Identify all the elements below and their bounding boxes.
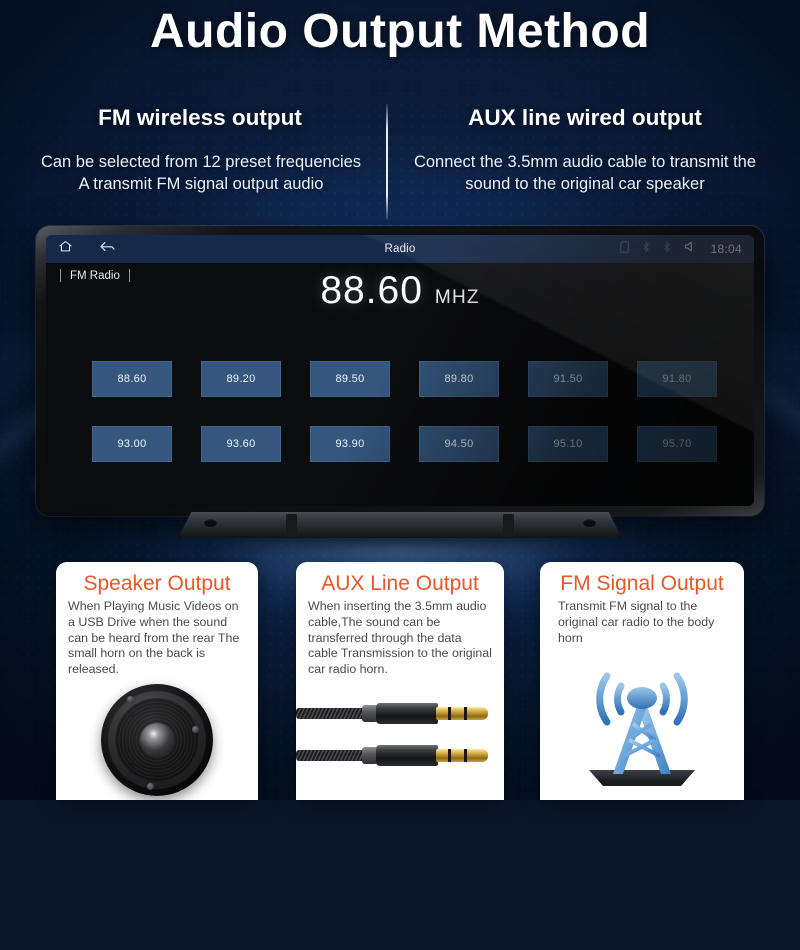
card-body: When inserting the 3.5mm audio cable,The… xyxy=(308,599,492,678)
preset-button[interactable]: 93.00 xyxy=(92,426,172,462)
column-body-fm: Can be selected from 12 preset frequenci… xyxy=(36,152,366,196)
card-title: FM Signal Output xyxy=(552,572,732,595)
car-stereo-device: Radio xyxy=(36,226,764,516)
card-title: Speaker Output xyxy=(68,572,246,595)
preset-button[interactable]: 95.10 xyxy=(528,426,608,462)
preset-button[interactable]: 91.80 xyxy=(637,361,717,397)
preset-button[interactable]: 89.20 xyxy=(201,361,281,397)
status-bar: Radio xyxy=(46,235,754,263)
column-body-aux: Connect the 3.5mm audio cable to transmi… xyxy=(406,152,764,196)
speaker-cone-icon xyxy=(56,674,258,796)
stand-bracket-left xyxy=(286,514,297,534)
column-heading-aux: AUX line wired output xyxy=(404,105,766,131)
preset-button[interactable]: 89.50 xyxy=(310,361,390,397)
bluetooth-off-icon xyxy=(642,240,650,258)
stand-mount-hole-right xyxy=(583,519,596,527)
device-stand xyxy=(178,512,622,538)
preset-button[interactable]: 94.50 xyxy=(419,426,499,462)
preset-grid: 88.6089.2089.5089.8091.5091.8093.0093.60… xyxy=(92,361,714,462)
preset-button[interactable]: 91.50 xyxy=(528,361,608,397)
frequency-unit: MHZ xyxy=(435,287,480,309)
volume-icon[interactable] xyxy=(684,240,697,258)
card-title: AUX Line Output xyxy=(308,572,492,595)
preset-button[interactable]: 95.70 xyxy=(637,426,717,462)
device-screen[interactable]: Radio xyxy=(46,235,754,506)
header-divider xyxy=(386,104,388,220)
info-card-speaker-output: Speaker Output When Playing Music Videos… xyxy=(56,562,258,800)
card-body: When Playing Music Videos on a USB Drive… xyxy=(68,599,246,678)
preset-button[interactable]: 89.80 xyxy=(419,361,499,397)
sd-card-icon xyxy=(620,240,629,258)
preset-button[interactable]: 93.60 xyxy=(201,426,281,462)
frequency-display: 88.60 MHZ xyxy=(46,269,754,313)
preset-button[interactable]: 88.60 xyxy=(92,361,172,397)
page-title: Audio Output Method xyxy=(0,4,800,59)
frequency-value: 88.60 xyxy=(320,269,423,313)
info-card-fm-signal-output: FM Signal Output Transmit FM signal to t… xyxy=(540,562,744,800)
card-body: Transmit FM signal to the original car r… xyxy=(552,599,732,646)
stand-mount-hole-left xyxy=(204,519,217,527)
status-bar-clock: 18:04 xyxy=(710,242,742,256)
preset-button[interactable]: 93.90 xyxy=(310,426,390,462)
aux-cable-icon xyxy=(296,674,504,792)
stand-bracket-right xyxy=(503,514,514,534)
column-heading-fm: FM wireless output xyxy=(30,105,370,131)
radio-tower-icon xyxy=(540,658,744,798)
info-card-aux-line-output: AUX Line Output When inserting the 3.5mm… xyxy=(296,562,504,800)
bluetooth-icon xyxy=(663,240,671,258)
